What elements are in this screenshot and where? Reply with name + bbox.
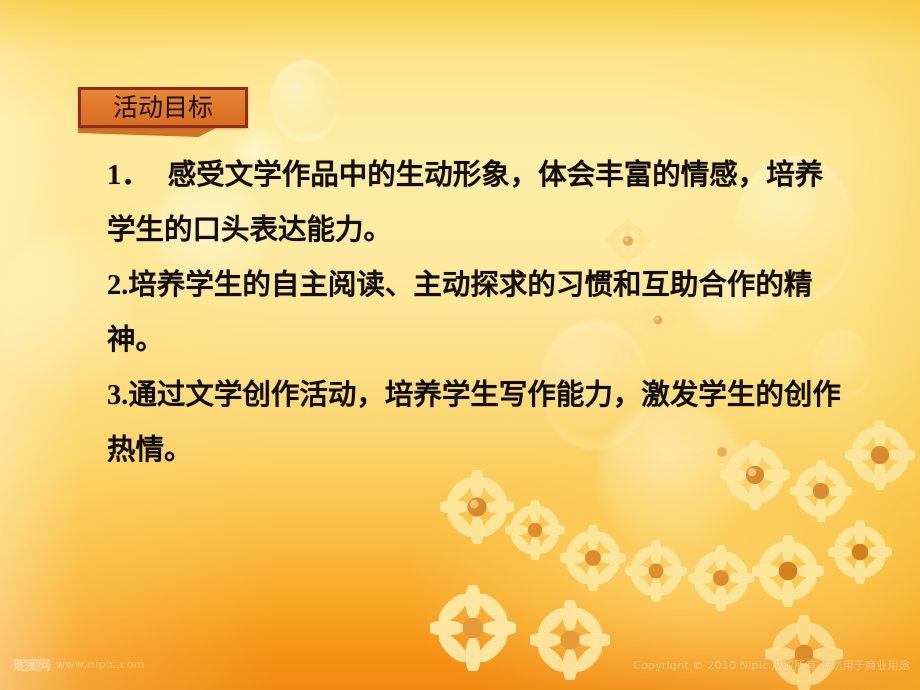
daisy-flower bbox=[765, 615, 843, 690]
slide-canvas: 活动目标 1．感受文学作品中的生动形象，体会丰富的情感，培养学生的口头表达能力。… bbox=[0, 0, 920, 690]
daisy-flower bbox=[845, 420, 915, 490]
objective-number-3: 3. bbox=[107, 380, 128, 411]
objective-text-2: 培养学生的自主阅读、主动探求的习惯和互助合作的精神。 bbox=[107, 270, 812, 356]
objective-item-2: 2.培养学生的自主阅读、主动探求的习惯和互助合作的精神。 bbox=[107, 258, 847, 368]
objective-number-2: 2. bbox=[107, 270, 128, 301]
objective-text-3: 通过文学创作活动，培养学生写作能力，激发学生的创作热情。 bbox=[107, 380, 841, 466]
flower-glow bbox=[420, 450, 920, 690]
objective-item-1: 1．感受文学作品中的生动形象，体会丰富的情感，培养学生的口头表达能力。 bbox=[107, 148, 847, 258]
daisy-flower bbox=[625, 540, 687, 602]
watermark-logo-text: 昵图网 bbox=[14, 655, 50, 674]
daisy-flower bbox=[752, 535, 824, 607]
section-title-text: 活动目标 bbox=[113, 95, 213, 120]
objective-number-1: 1． bbox=[107, 160, 150, 191]
objectives-list: 1．感受文学作品中的生动形象，体会丰富的情感，培养学生的口头表达能力。 2.培养… bbox=[107, 148, 847, 478]
daisy-flower bbox=[828, 520, 892, 584]
watermark-copyright: Copyright © 2010 Nipic 版权所有 请勿用于商业用途 bbox=[633, 657, 910, 673]
daisy-flower bbox=[505, 500, 565, 560]
banner-ribbon-tail bbox=[78, 127, 218, 137]
daisy-flower bbox=[560, 525, 626, 591]
daisy-flower bbox=[430, 585, 516, 671]
objective-text-1: 感受文学作品中的生动形象，体会丰富的情感，培养学生的口头表达能力。 bbox=[107, 160, 823, 246]
objective-item-3: 3.通过文学创作活动，培养学生写作能力，激发学生的创作热情。 bbox=[107, 368, 847, 478]
daisy-flower bbox=[440, 470, 514, 544]
watermark-nipic: 昵图网 www.nipic.com bbox=[14, 655, 145, 674]
watermark-url-text: www.nipic.com bbox=[56, 658, 145, 671]
daisy-flower bbox=[688, 545, 754, 611]
daisy-flower bbox=[530, 600, 610, 680]
section-title-banner: 活动目标 bbox=[78, 87, 248, 128]
bubble-decoration bbox=[270, 60, 340, 142]
